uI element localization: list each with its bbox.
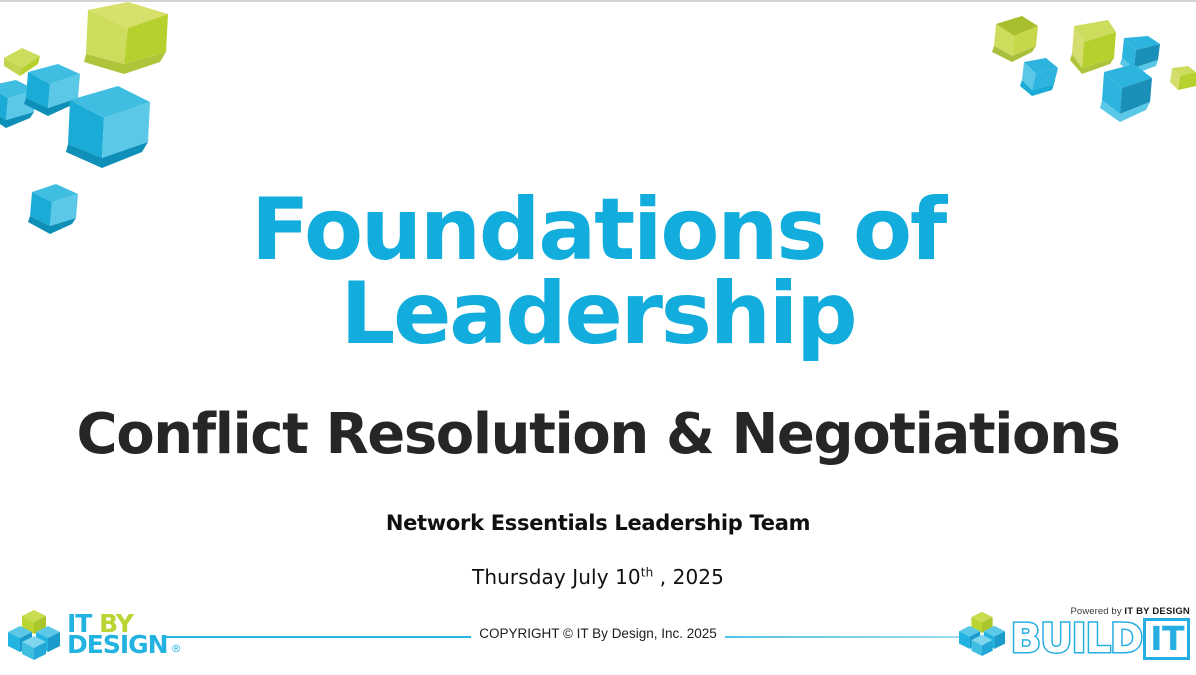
build-it-box-text: IT	[1143, 618, 1190, 660]
it-by-design-logo: IT BY DESIGN®	[8, 608, 181, 660]
registered-trademark-icon: ®	[171, 644, 181, 653]
cube-cyan-right-a	[1020, 58, 1058, 96]
slide-subtitle: Conflict Resolution & Negotiations	[0, 406, 1196, 465]
date-prefix: Thursday July 10	[472, 565, 641, 589]
cube-cyan-right-c	[1100, 64, 1152, 122]
date-year: , 2025	[653, 565, 724, 589]
page-title: Foundations of Leadership	[0, 188, 1196, 357]
cube-cyan-medium	[24, 64, 80, 116]
slide-date: Thursday July 10th , 2025	[0, 565, 1196, 589]
cube-green-right-c	[1170, 66, 1196, 90]
cube-cyan-right-b	[1120, 36, 1160, 74]
cube-green-right-b	[1070, 20, 1116, 74]
build-it-wordmark: BUILDIT	[1011, 618, 1190, 660]
cube-green-tiny	[4, 48, 40, 76]
presentation-slide: Foundations of Leadership Conflict Resol…	[0, 0, 1196, 675]
build-it-logo: Powered by IT BY DESIGN BUILDIT	[959, 606, 1190, 660]
cube-stack-icon-build	[959, 610, 1005, 656]
presenter-team: Network Essentials Leadership Team	[0, 511, 1196, 535]
cube-cyan-edge	[0, 80, 36, 128]
cube-cyan-large	[66, 86, 150, 168]
logo-text-design: DESIGN	[67, 634, 168, 655]
copyright-text: COPYRIGHT © IT By Design, Inc. 2025	[471, 626, 725, 641]
date-ordinal-suffix: th	[641, 565, 654, 579]
cube-green-right-a	[992, 16, 1038, 62]
build-word-text: BUILD	[1011, 622, 1143, 656]
cube-green-large	[84, 2, 168, 74]
title-block: Foundations of Leadership	[0, 188, 1196, 357]
cube-stack-icon	[8, 608, 60, 660]
